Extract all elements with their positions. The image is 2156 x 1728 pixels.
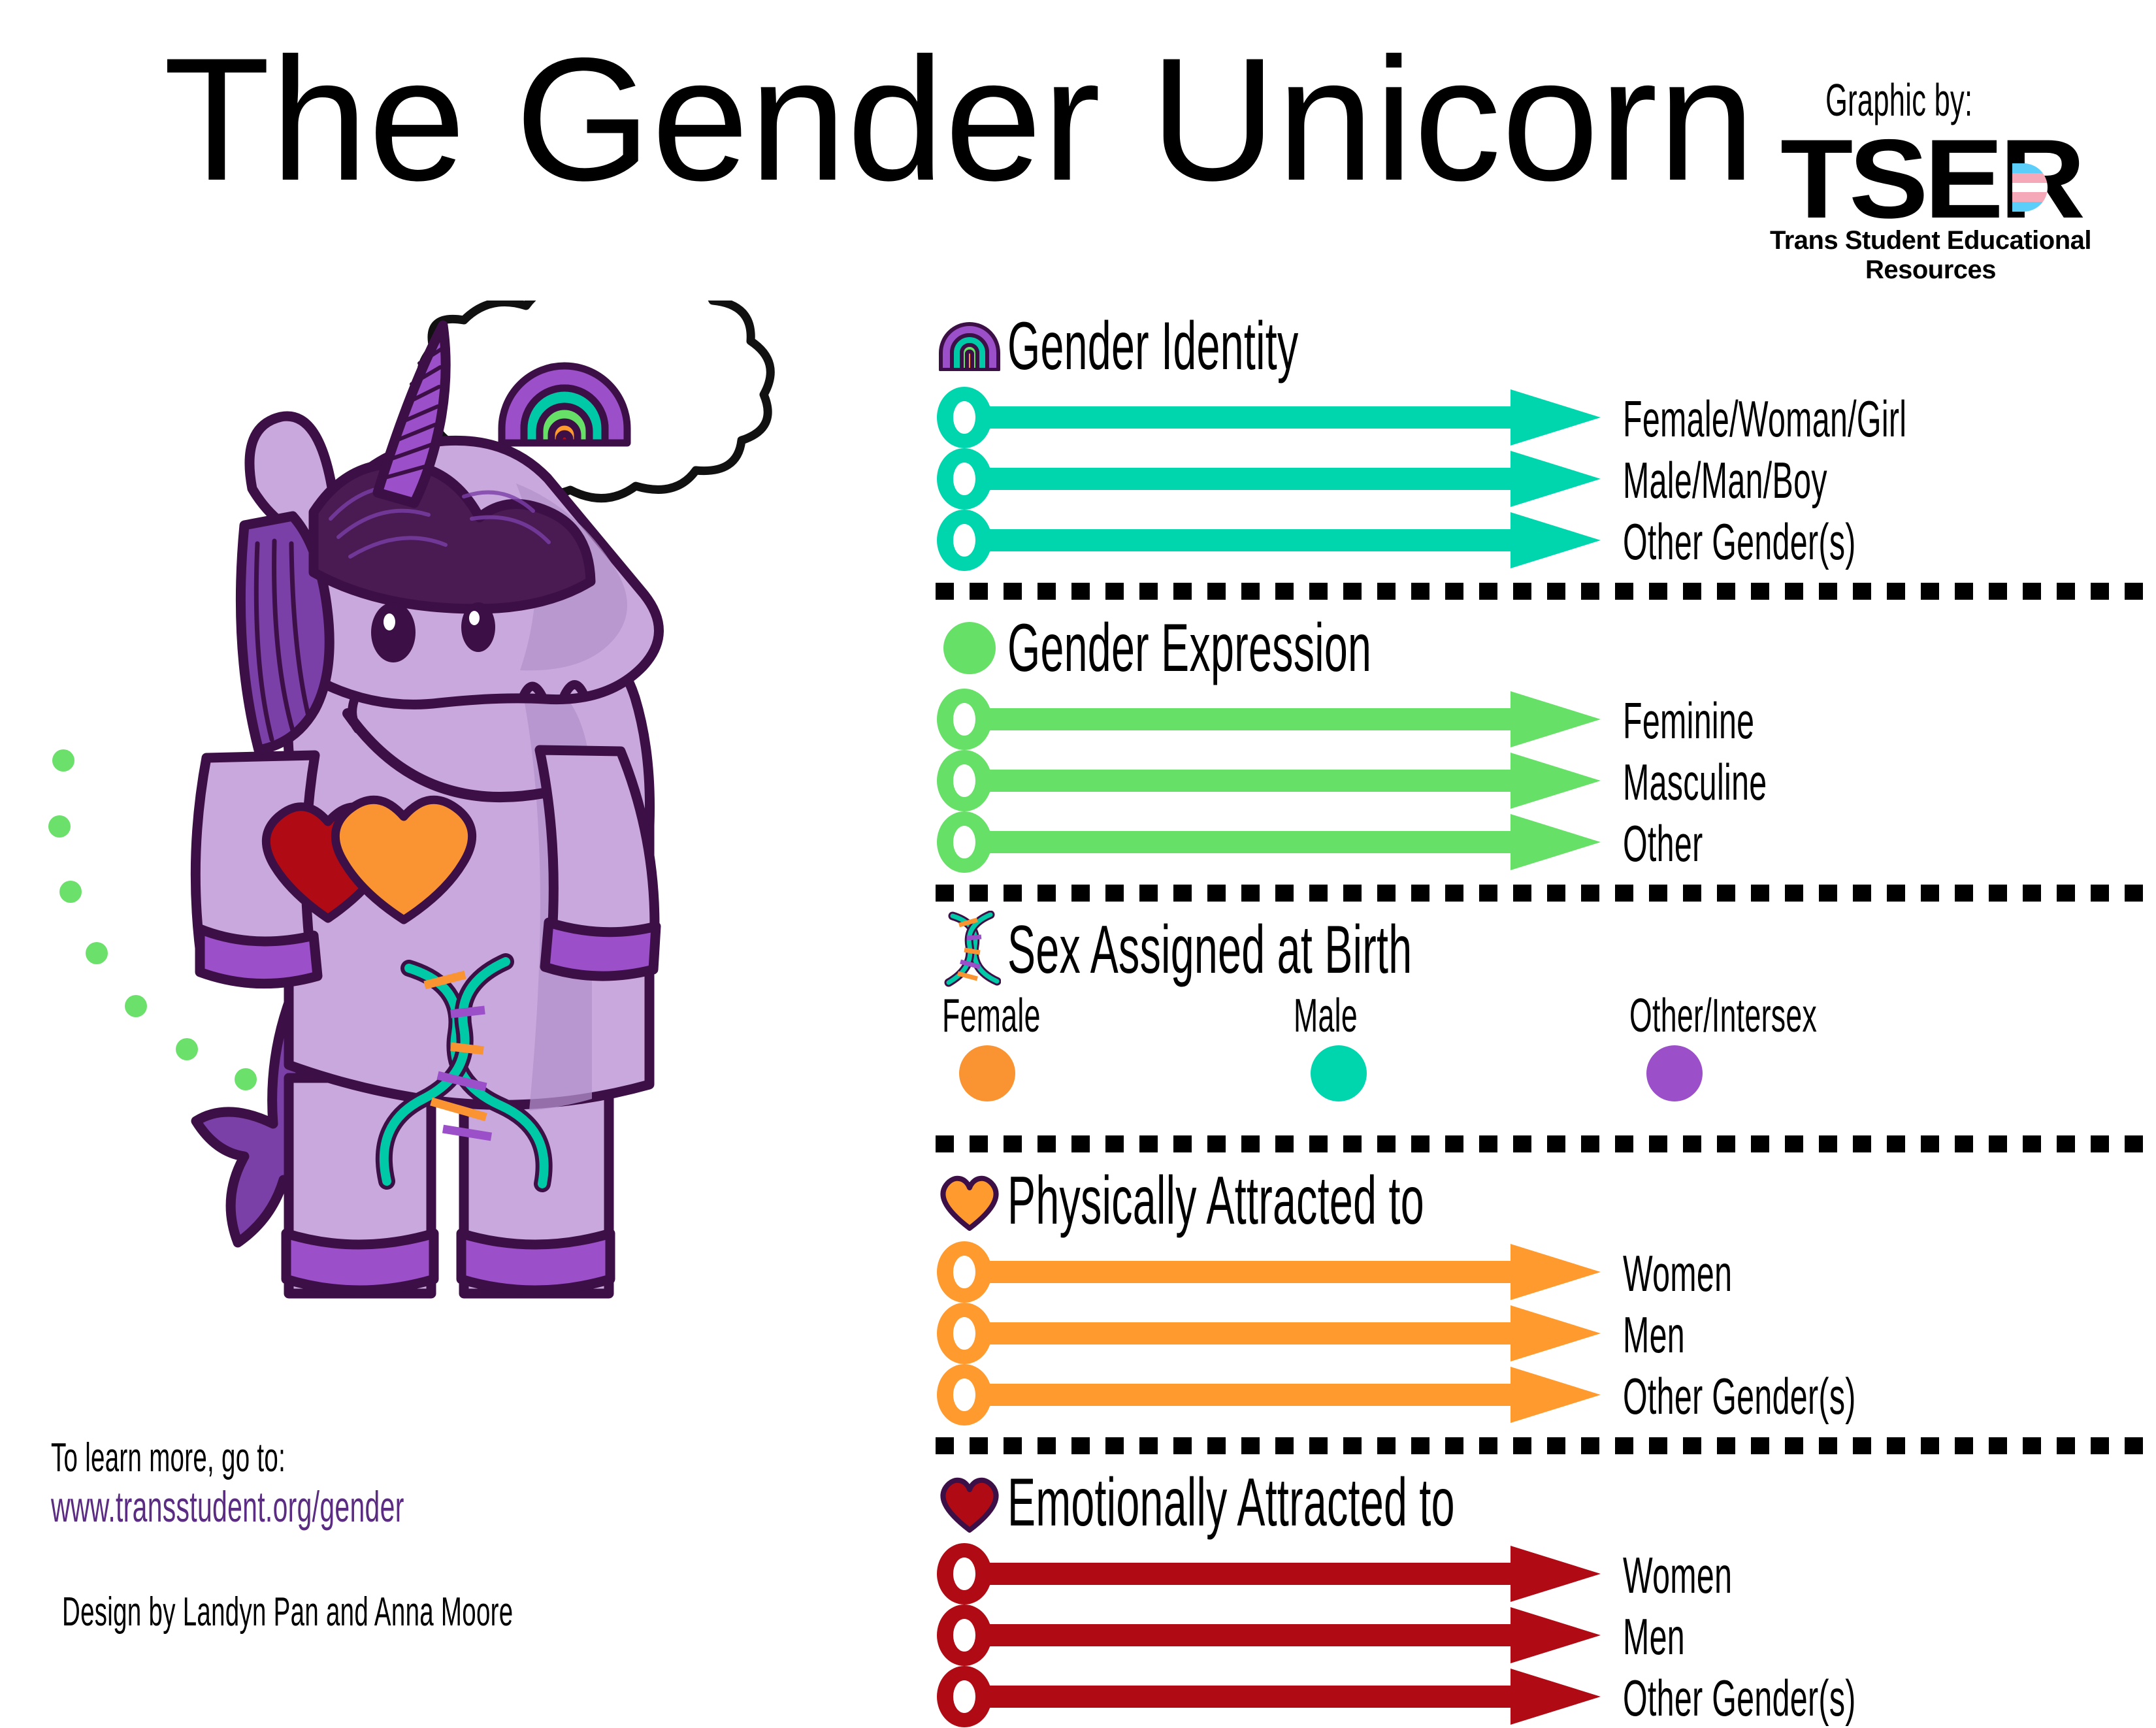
page-title-text: The Gender Unicorn	[163, 21, 1756, 217]
divider-dash	[1615, 1135, 1633, 1152]
divider-dash	[936, 583, 954, 600]
section-gender-identity: Gender Identity Female/Woman/Girl Male/M…	[936, 307, 2118, 571]
divider-dash	[1004, 885, 1022, 902]
arrow-row[interactable]: Other	[936, 811, 2118, 873]
divider-dash	[936, 885, 954, 902]
divider-dash	[1105, 885, 1124, 902]
divider-dash	[2091, 583, 2109, 600]
divider-dash	[1479, 1437, 1497, 1454]
divider-dash	[1241, 1437, 1260, 1454]
divider-dash	[1479, 885, 1497, 902]
design-credit: Design by Landyn Pan and Anna Moore	[62, 1589, 513, 1635]
red-heart-icon	[936, 1473, 1004, 1533]
arrow-row[interactable]: Other Gender(s)	[936, 1364, 2118, 1426]
divider-dash	[1819, 1135, 1837, 1152]
arrow-label: Other	[1623, 814, 1703, 873]
divider-dash	[1275, 1437, 1294, 1454]
divider-dash	[1377, 885, 1396, 902]
spectrum-arrow	[936, 1605, 1602, 1666]
section-title: Gender Identity	[1007, 312, 1299, 380]
divider-dash	[1105, 1437, 1124, 1454]
divider-dash	[1955, 583, 1973, 600]
sab-dot[interactable]	[1646, 1045, 1703, 1101]
divider-dash	[1445, 1437, 1463, 1454]
divider-dash	[1615, 583, 1633, 600]
divider-dash	[1717, 885, 1735, 902]
divider-dash	[1513, 1135, 1531, 1152]
divider-dash	[1445, 1135, 1463, 1152]
arrow-row[interactable]: Male/Man/Boy	[936, 448, 2118, 510]
divider-dash	[1989, 885, 2007, 902]
divider-dash	[2091, 885, 2109, 902]
divider-dash	[1411, 1437, 1429, 1454]
divider-dash	[1547, 885, 1565, 902]
divider-dash	[2057, 583, 2075, 600]
section-divider	[936, 583, 2118, 600]
arrow-row[interactable]: Masculine	[936, 750, 2118, 811]
tser-logo-block: Graphic by: TSER Trans Student Education…	[1757, 77, 2104, 285]
spectrum-arrow	[936, 510, 1602, 571]
section-title: Physically Attracted to	[1007, 1167, 1424, 1235]
arrow-row[interactable]: Men	[936, 1303, 2118, 1364]
website-url[interactable]: www.transstudent.org/gender	[51, 1482, 404, 1531]
section-title: Gender Expression	[1007, 614, 1371, 682]
divider-dash	[1207, 583, 1226, 600]
divider-dash	[1275, 885, 1294, 902]
divider-dash	[1547, 1437, 1565, 1454]
divider-dash	[1173, 583, 1192, 600]
divider-dash	[1785, 1135, 1803, 1152]
divider-dash	[1377, 583, 1396, 600]
divider-dash	[1105, 1135, 1124, 1152]
dna-icon	[938, 911, 1001, 989]
divider-dash	[1004, 1135, 1022, 1152]
divider-dash	[1309, 1437, 1328, 1454]
divider-dash	[1683, 885, 1701, 902]
divider-dash	[1887, 583, 1905, 600]
green-circle-icon	[941, 619, 998, 677]
green-circle-icon	[936, 619, 1004, 677]
orange-heart-icon	[938, 1171, 1001, 1231]
divider-dash	[1989, 1135, 2007, 1152]
dna-icon	[936, 911, 1004, 989]
left-arm-cuff	[200, 929, 318, 984]
divider-dash	[1105, 583, 1124, 600]
divider-dash	[1343, 1437, 1362, 1454]
divider-dash	[1275, 1135, 1294, 1152]
sab-dot[interactable]	[959, 1045, 1015, 1101]
green-dot	[52, 749, 74, 772]
divider-dash	[2023, 1437, 2041, 1454]
divider-dash	[1479, 583, 1497, 600]
unicorn-left-eye	[371, 602, 416, 662]
divider-dash	[1037, 1437, 1056, 1454]
arrow-label: Other Gender(s)	[1623, 1367, 1856, 1426]
arrow-row[interactable]: Women	[936, 1241, 2118, 1303]
sab-label: Male	[1294, 989, 1358, 1043]
divider-dash	[1445, 885, 1463, 902]
divider-dash	[2091, 1437, 2109, 1454]
divider-dash	[1717, 1437, 1735, 1454]
red-heart-icon	[938, 1473, 1001, 1533]
divider-dash	[1037, 1135, 1056, 1152]
divider-dash	[1785, 583, 1803, 600]
divider-dash	[970, 583, 988, 600]
section-gender-expression: Gender Expression Feminine Masculine Oth…	[936, 609, 2118, 873]
divider-dash	[1581, 885, 1599, 902]
arrow-label: Other Gender(s)	[1623, 1669, 1856, 1728]
section-emotionally-attracted-to: Emotionally Attracted to Women Men Other…	[936, 1463, 2118, 1727]
divider-dash	[1004, 1437, 1022, 1454]
divider-dash	[2125, 885, 2143, 902]
divider-dash	[1513, 885, 1531, 902]
divider-dash	[1309, 1135, 1328, 1152]
sab-option-labels: FemaleMaleOther/Intersex	[936, 989, 2118, 1045]
divider-dash	[970, 885, 988, 902]
section-divider	[936, 1437, 2118, 1454]
divider-dash	[1615, 1437, 1633, 1454]
divider-dash	[1139, 1437, 1158, 1454]
divider-dash	[1343, 1135, 1362, 1152]
spectrum-arrow	[936, 1364, 1602, 1426]
divider-dash	[1581, 1135, 1599, 1152]
learn-more-label: To learn more, go to:	[51, 1431, 286, 1486]
divider-dash	[2057, 1135, 2075, 1152]
divider-dash	[1071, 1135, 1090, 1152]
divider-dash	[1751, 885, 1769, 902]
arrow-label: Male/Man/Boy	[1623, 451, 1827, 510]
sab-label: Female	[942, 989, 1041, 1043]
divider-dash	[1004, 583, 1022, 600]
divider-dash	[1377, 1437, 1396, 1454]
divider-dash	[1173, 885, 1192, 902]
divider-dash	[1751, 1135, 1769, 1152]
divider-dash	[1411, 1135, 1429, 1152]
section-header-gender-expression: Gender Expression	[936, 609, 2118, 687]
divider-dash	[1785, 1437, 1803, 1454]
arrow-label: Other Gender(s)	[1623, 512, 1856, 572]
section-divider	[936, 1135, 2118, 1152]
divider-dash	[1173, 1437, 1192, 1454]
divider-dash	[1547, 1135, 1565, 1152]
section-header-gender-identity: Gender Identity	[936, 307, 2118, 385]
divider-dash	[2023, 583, 2041, 600]
sab-label: Other/Intersex	[1629, 989, 1817, 1043]
arrow-row[interactable]: Feminine	[936, 689, 2118, 750]
spectrum-sections: Gender Identity Female/Woman/Girl Male/M…	[936, 307, 2118, 1727]
divider-dash	[1037, 583, 1056, 600]
divider-dash	[1887, 885, 1905, 902]
arrow-rows: Women Men Other Gender(s)	[936, 1241, 2118, 1426]
unicorn-illustration	[98, 301, 830, 1346]
spectrum-arrow	[936, 1666, 1602, 1727]
divider-dash	[936, 1437, 954, 1454]
arrow-row[interactable]: Other Gender(s)	[936, 1666, 2118, 1727]
divider-dash	[1071, 885, 1090, 902]
divider-dash	[1955, 1135, 1973, 1152]
divider-dash	[1921, 1135, 1939, 1152]
arrow-label: Women	[1623, 1244, 1732, 1303]
divider-dash	[2023, 885, 2041, 902]
section-header-sex-assigned-at-birth: Sex Assigned at Birth	[936, 911, 2118, 989]
divider-dash	[1649, 1135, 1667, 1152]
section-sex-assigned-at-birth: Sex Assigned at Birth FemaleMaleOther/In…	[936, 911, 2118, 1124]
arrow-row[interactable]: Men	[936, 1605, 2118, 1666]
arrow-label: Men	[1623, 1305, 1685, 1365]
divider-dash	[1479, 1135, 1497, 1152]
section-header-emotionally-attracted-to: Emotionally Attracted to	[936, 1463, 2118, 1542]
divider-dash	[1649, 1437, 1667, 1454]
divider-dash	[2125, 1437, 2143, 1454]
orange-heart-icon	[936, 1171, 1004, 1231]
divider-dash	[1377, 1135, 1396, 1152]
divider-dash	[2125, 583, 2143, 600]
arrow-rows: Female/Woman/Girl Male/Man/Boy Other Gen…	[936, 387, 2118, 571]
section-divider	[936, 885, 2118, 902]
spectrum-arrow	[936, 1241, 1602, 1303]
divider-dash	[1241, 885, 1260, 902]
divider-dash	[970, 1437, 988, 1454]
spectrum-arrow	[936, 1303, 1602, 1364]
divider-dash	[2091, 1135, 2109, 1152]
arrow-label: Women	[1623, 1546, 1732, 1605]
divider-dash	[1581, 583, 1599, 600]
divider-dash	[1513, 1437, 1531, 1454]
divider-dash	[1445, 583, 1463, 600]
arrow-row[interactable]: Other Gender(s)	[936, 510, 2118, 571]
divider-dash	[1139, 583, 1158, 600]
divider-dash	[1343, 583, 1362, 600]
divider-dash	[1683, 1135, 1701, 1152]
arrow-label: Men	[1623, 1607, 1685, 1667]
divider-dash	[936, 1135, 954, 1152]
spectrum-arrow	[936, 387, 1602, 448]
section-physically-attracted-to: Physically Attracted to Women Men Other …	[936, 1162, 2118, 1426]
rainbow-icon	[937, 321, 1002, 371]
divider-dash	[1071, 583, 1090, 600]
divider-dash	[1207, 1135, 1226, 1152]
divider-dash	[1241, 583, 1260, 600]
divider-dash	[1649, 583, 1667, 600]
arrow-row[interactable]: Women	[936, 1543, 2118, 1605]
arrow-label: Female/Woman/Girl	[1623, 389, 1906, 449]
spectrum-arrow	[936, 750, 1602, 811]
arrow-rows: Feminine Masculine Other	[936, 689, 2118, 873]
divider-dash	[1853, 885, 1871, 902]
divider-dash	[1751, 583, 1769, 600]
divider-dash	[1955, 1437, 1973, 1454]
divider-dash	[1547, 583, 1565, 600]
divider-dash	[1275, 583, 1294, 600]
divider-dash	[1309, 583, 1328, 600]
divider-dash	[1921, 885, 1939, 902]
spectrum-arrow	[936, 1543, 1602, 1605]
arrow-label: Masculine	[1623, 753, 1767, 812]
unicorn-right-eye	[461, 602, 495, 652]
divider-dash	[1887, 1437, 1905, 1454]
spectrum-arrow	[936, 811, 1602, 873]
divider-dash	[1683, 1437, 1701, 1454]
sab-dot[interactable]	[1311, 1045, 1367, 1101]
divider-dash	[1717, 583, 1735, 600]
tser-wordmark: TSER	[1789, 127, 2073, 233]
tser-org-name: Trans Student Educational Resources	[1757, 226, 2104, 285]
section-title: Sex Assigned at Birth	[1007, 916, 1412, 984]
divider-dash	[1751, 1437, 1769, 1454]
divider-dash	[1513, 583, 1531, 600]
divider-dash	[1785, 885, 1803, 902]
divider-dash	[1819, 1437, 1837, 1454]
divider-dash	[1037, 885, 1056, 902]
green-dot	[59, 881, 82, 903]
sab-option-dots	[936, 1045, 2118, 1124]
divider-dash	[1853, 583, 1871, 600]
divider-dash	[1343, 885, 1362, 902]
divider-dash	[1989, 1437, 2007, 1454]
divider-dash	[1071, 1437, 1090, 1454]
divider-dash	[1921, 583, 1939, 600]
divider-dash	[2057, 885, 2075, 902]
divider-dash	[1411, 583, 1429, 600]
divider-dash	[1887, 1135, 1905, 1152]
page-title: The Gender Unicorn	[163, 31, 1756, 206]
divider-dash	[1241, 1135, 1260, 1152]
divider-dash	[1819, 583, 1837, 600]
divider-dash	[1615, 885, 1633, 902]
arrow-row[interactable]: Female/Woman/Girl	[936, 387, 2118, 448]
right-leg-cuff	[461, 1233, 610, 1290]
divider-dash	[1853, 1135, 1871, 1152]
spectrum-arrow	[936, 689, 1602, 750]
section-header-physically-attracted-to: Physically Attracted to	[936, 1162, 2118, 1240]
divider-dash	[1173, 1135, 1192, 1152]
divider-dash	[1921, 1437, 1939, 1454]
divider-dash	[2023, 1135, 2041, 1152]
divider-dash	[1955, 885, 1973, 902]
divider-dash	[1139, 885, 1158, 902]
divider-dash	[1989, 583, 2007, 600]
rainbow-icon	[936, 321, 1004, 371]
divider-dash	[1649, 885, 1667, 902]
green-dot	[48, 815, 71, 838]
spectrum-arrow	[936, 448, 1602, 510]
arrow-label: Feminine	[1623, 691, 1754, 751]
divider-dash	[1717, 1135, 1735, 1152]
divider-dash	[1207, 885, 1226, 902]
section-title: Emotionally Attracted to	[1007, 1469, 1455, 1537]
divider-dash	[2125, 1135, 2143, 1152]
divider-dash	[1139, 1135, 1158, 1152]
divider-dash	[1853, 1437, 1871, 1454]
arrow-rows: Women Men Other Gender(s)	[936, 1543, 2118, 1727]
left-leg-cuff	[286, 1233, 434, 1290]
divider-dash	[2057, 1437, 2075, 1454]
divider-dash	[1581, 1437, 1599, 1454]
divider-dash	[1411, 885, 1429, 902]
divider-dash	[1309, 885, 1328, 902]
divider-dash	[1683, 583, 1701, 600]
right-arm-cuff	[545, 922, 656, 976]
divider-dash	[970, 1135, 988, 1152]
divider-dash	[1207, 1437, 1226, 1454]
divider-dash	[1819, 885, 1837, 902]
